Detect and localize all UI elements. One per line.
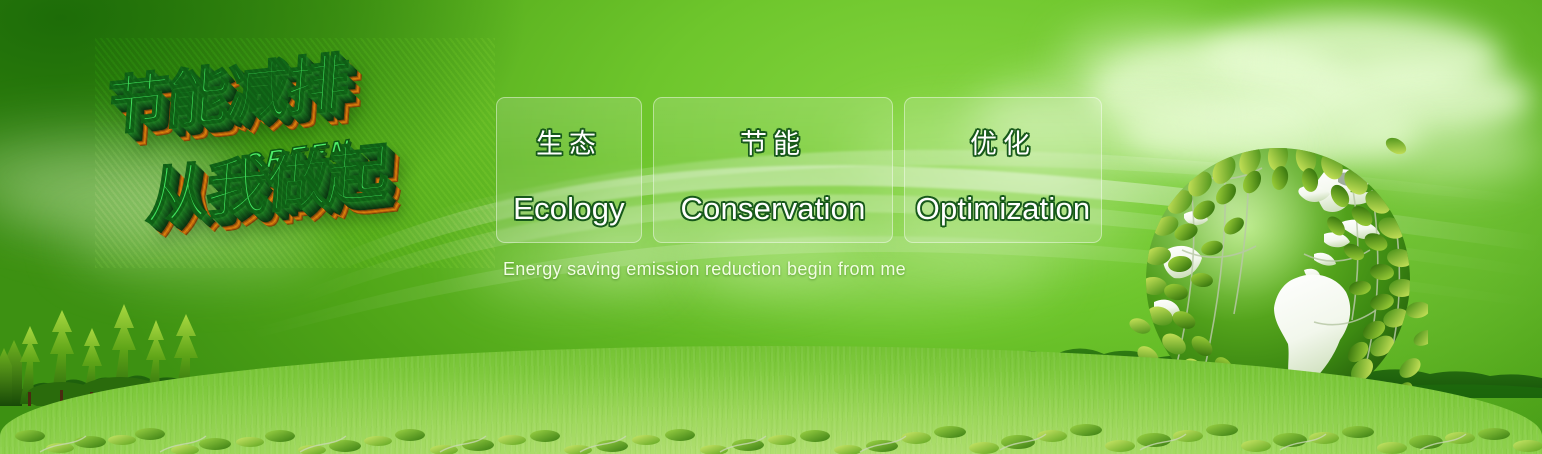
card-title-en: Ecology [513, 191, 625, 227]
feature-card-conservation[interactable]: 节能 Conservation [653, 97, 893, 243]
card-title-en: Conservation [680, 191, 865, 227]
subtitle-tagline: Energy saving emission reduction begin f… [503, 259, 906, 280]
feature-card-ecology[interactable]: 生态 Ecology [496, 97, 642, 243]
leaf-litter-foreground [0, 402, 1542, 454]
feature-card-group: 生态 Ecology 节能 Conservation 优化 Optimizati… [496, 97, 1102, 243]
card-title-cn: 生态 [536, 122, 602, 161]
card-title-cn: 节能 [740, 122, 806, 161]
card-title-en: Optimization [916, 191, 1091, 227]
card-title-cn: 优化 [970, 122, 1036, 161]
headline-logo: 节能减排 GREEN 从我做起 [95, 38, 495, 268]
eco-banner: 节能减排 GREEN 从我做起 生态 Ecology 节能 Conservati… [0, 0, 1542, 454]
feature-card-optimization[interactable]: 优化 Optimization [904, 97, 1102, 243]
